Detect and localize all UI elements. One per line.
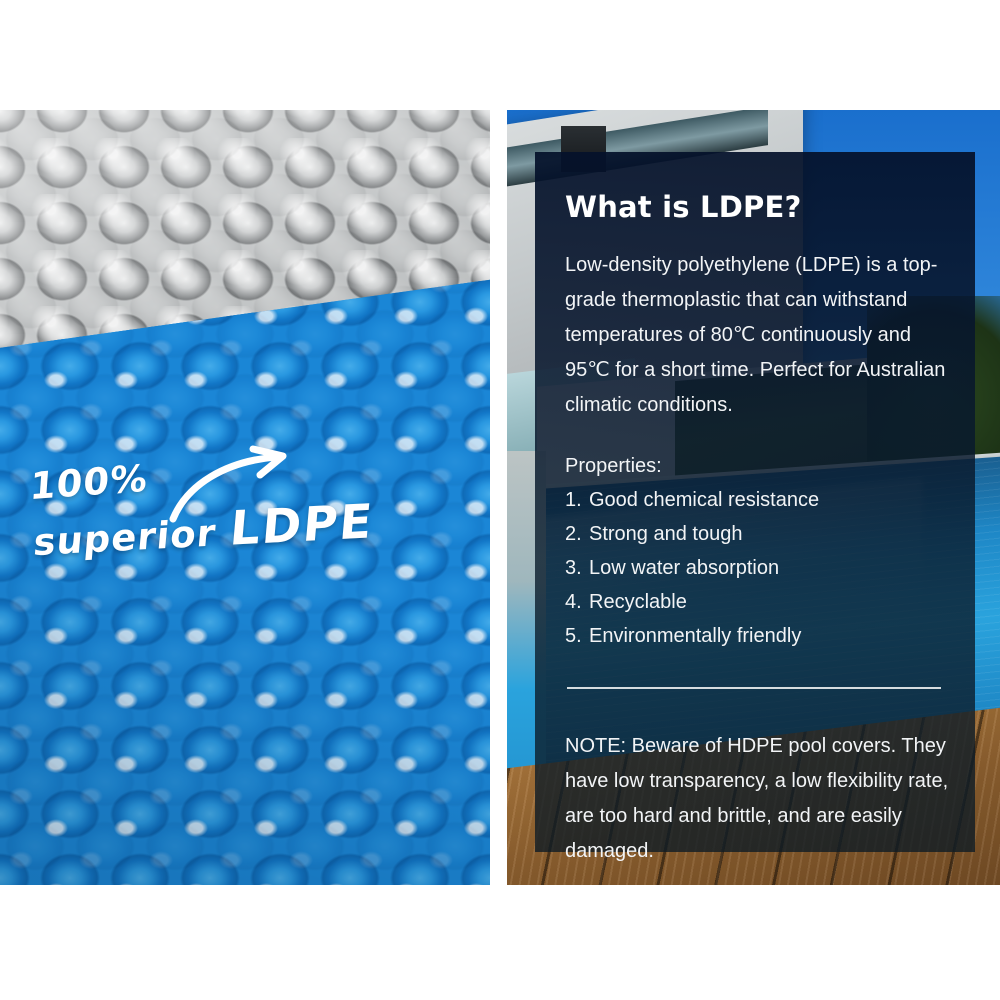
list-item-label: Environmentally friendly	[589, 619, 801, 653]
list-item: 5. Environmentally friendly	[565, 619, 949, 653]
list-item-number: 2.	[565, 517, 586, 551]
pool-cover-material-photo: 100% superiorLDPE	[0, 110, 490, 885]
list-item-label: Low water absorption	[589, 551, 779, 585]
callout-line-1: 100%	[28, 457, 149, 509]
card-title: What is LDPE?	[565, 190, 949, 224]
list-item-label: Strong and tough	[589, 517, 742, 551]
curved-arrow-icon	[165, 445, 305, 525]
hdpe-warning-note: NOTE: Beware of HDPE pool covers. They h…	[565, 729, 949, 869]
card-divider	[567, 687, 941, 689]
ldpe-description-paragraph: Low-density polyethylene (LDPE) is a top…	[565, 248, 949, 423]
properties-label: Properties:	[565, 449, 949, 483]
list-item: 3. Low water absorption	[565, 551, 949, 585]
pool-scene-panel: What is LDPE? Low-density polyethylene (…	[507, 110, 1000, 885]
list-item: 4. Recyclable	[565, 585, 949, 619]
list-item: 1. Good chemical resistance	[565, 483, 949, 517]
list-item: 2. Strong and tough	[565, 517, 949, 551]
product-infographic: 100% superiorLDPE What is L	[0, 0, 1000, 1000]
ldpe-info-card: What is LDPE? Low-density polyethylene (…	[535, 152, 975, 852]
properties-list: 1. Good chemical resistance 2. Strong an…	[565, 483, 949, 653]
list-item-number: 4.	[565, 585, 586, 619]
list-item-label: Recyclable	[589, 585, 687, 619]
list-item-number: 5.	[565, 619, 586, 653]
list-item-number: 1.	[565, 483, 586, 517]
list-item-label: Good chemical resistance	[589, 483, 819, 517]
list-item-number: 3.	[565, 551, 586, 585]
